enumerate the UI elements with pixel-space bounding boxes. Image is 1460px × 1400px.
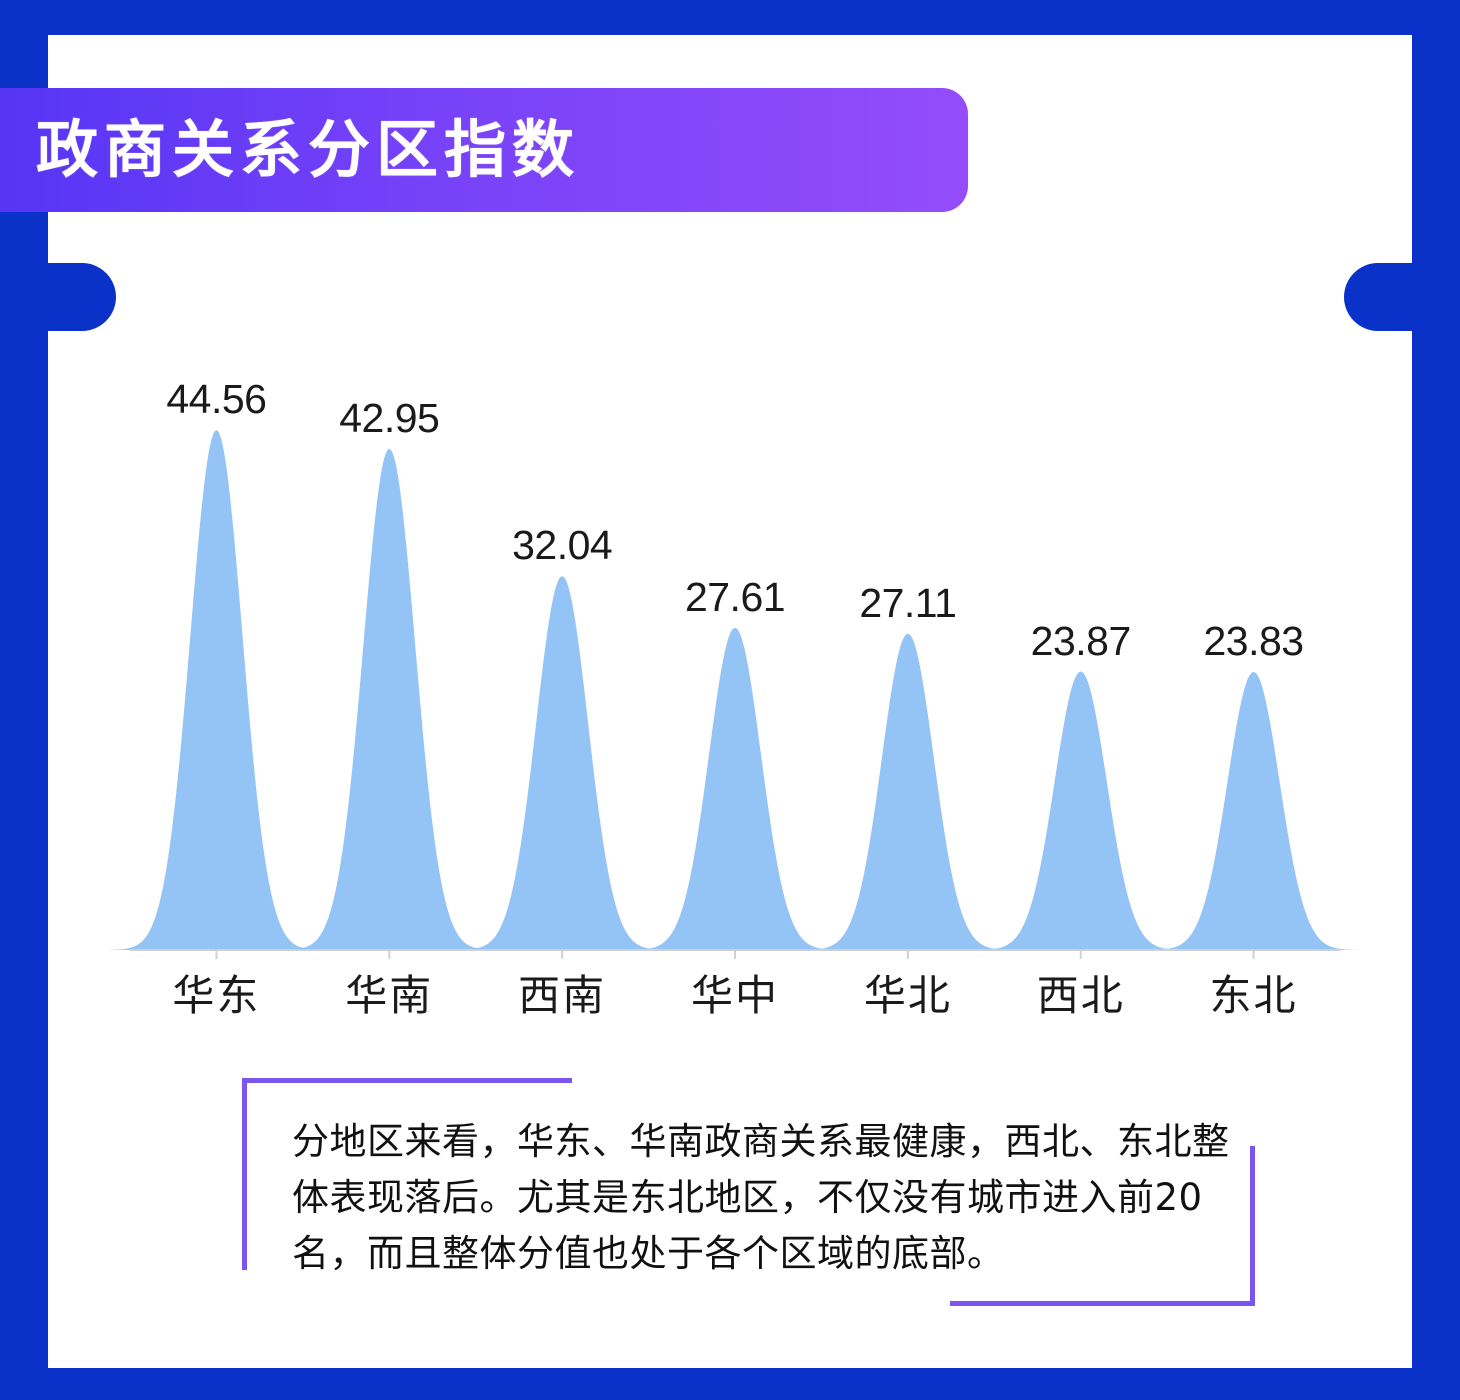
- category-label-华北: 华北: [864, 962, 952, 1023]
- caption-block: 分地区来看，华东、华南政商关系最健康，西北、东北整体表现落后。尤其是东北地区，不…: [238, 1078, 1258, 1306]
- value-label-东北: 23.83: [1204, 618, 1304, 665]
- category-label-西北: 西北: [1037, 962, 1125, 1023]
- value-label-华中: 27.61: [685, 574, 785, 621]
- infographic-page: 政商关系分区指数 44.5642.9532.0427.6127.1123.872…: [0, 0, 1460, 1400]
- title-banner: 政商关系分区指数: [0, 88, 968, 212]
- peak-chart-svg: [130, 360, 1340, 960]
- bracket-right-line: [1250, 1146, 1255, 1306]
- x-axis-ticks: [216, 950, 1253, 959]
- left-notch-decoration: [48, 263, 116, 331]
- category-label-西南: 西南: [518, 962, 606, 1023]
- caption-text: 分地区来看，华东、华南政商关系最健康，西北、东北整体表现落后。尤其是东北地区，不…: [292, 1114, 1237, 1283]
- value-label-华东: 44.56: [166, 376, 266, 423]
- value-label-华北: 27.11: [859, 580, 956, 627]
- peak-chart: 44.5642.9532.0427.6127.1123.8723.83: [130, 360, 1340, 960]
- value-label-西北: 23.87: [1031, 618, 1131, 665]
- category-label-华中: 华中: [691, 962, 779, 1023]
- category-label-东北: 东北: [1210, 962, 1298, 1023]
- page-title: 政商关系分区指数: [36, 119, 580, 181]
- peak-series-group: [35, 430, 1435, 950]
- bracket-bottom-line: [950, 1301, 1255, 1306]
- value-label-西南: 32.04: [512, 522, 612, 569]
- bracket-left-line: [242, 1078, 247, 1270]
- category-label-华南: 华南: [345, 962, 433, 1023]
- category-label-group: 华东华南西南华中华北西北东北: [130, 962, 1340, 1022]
- value-label-华南: 42.95: [339, 395, 439, 442]
- right-notch-decoration: [1344, 263, 1412, 331]
- category-label-华东: 华东: [172, 962, 260, 1023]
- bracket-top-line: [242, 1078, 572, 1083]
